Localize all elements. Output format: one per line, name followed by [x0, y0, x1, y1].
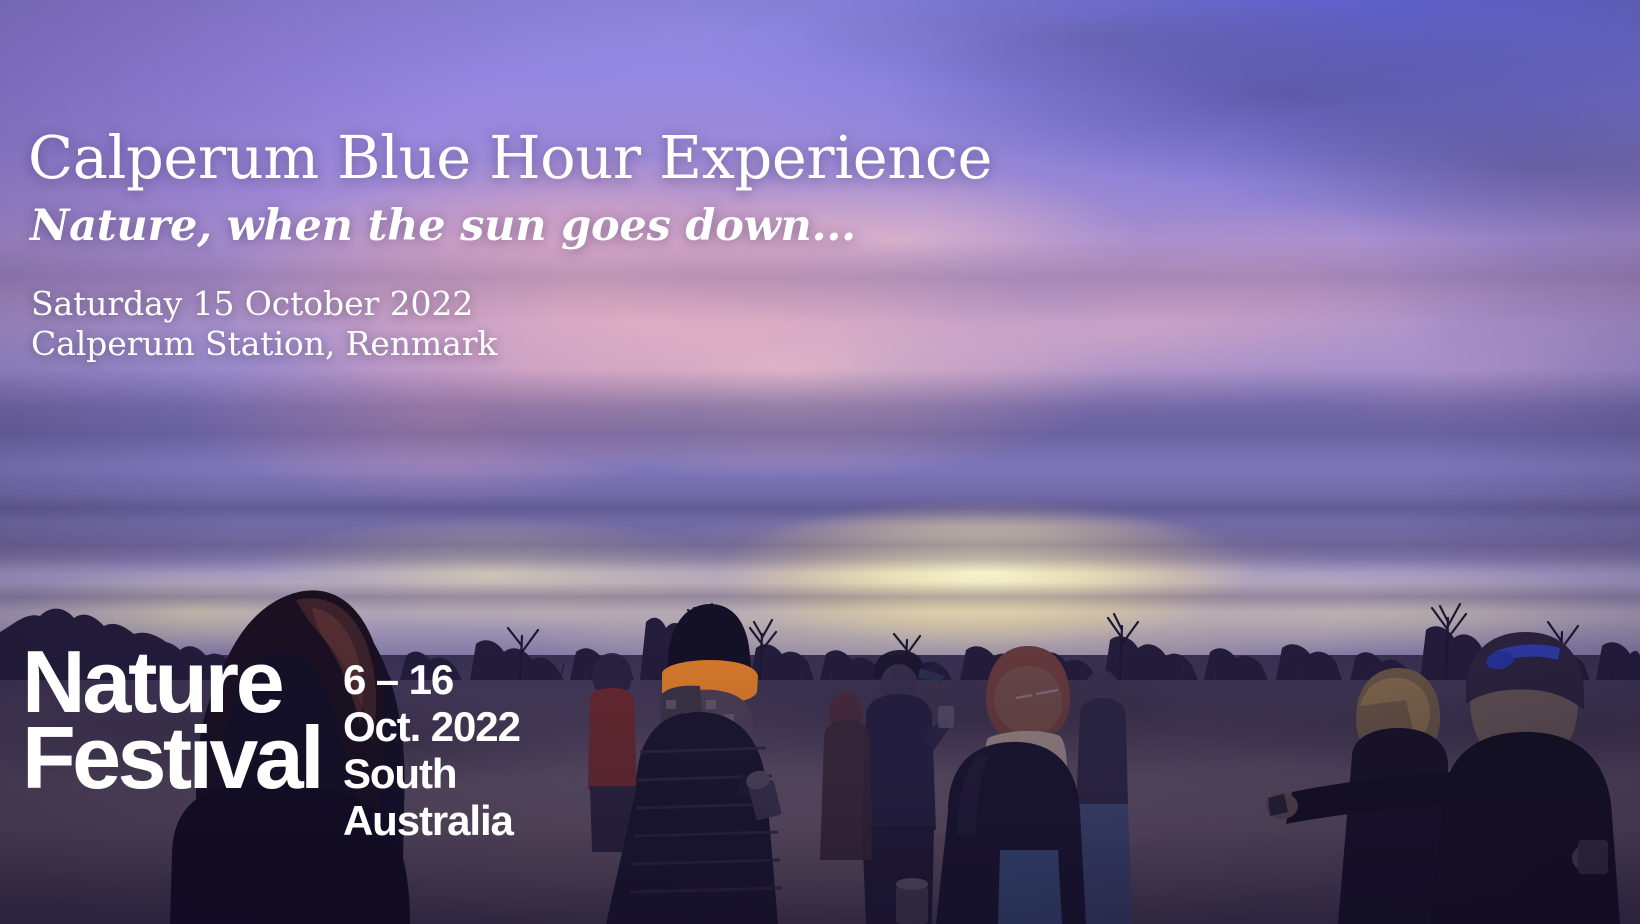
event-date: Saturday 15 October 2022: [31, 284, 992, 324]
logo-region-line-1: South: [343, 750, 520, 797]
event-poster: Calperum Blue Hour Experience Nature, wh…: [0, 0, 1640, 924]
nature-festival-logo: Nature Festival 6 – 16 Oct. 2022 South A…: [22, 644, 520, 844]
logo-wordmark: Nature Festival: [22, 644, 321, 795]
logo-region-line-2: Australia: [343, 797, 520, 844]
logo-word-festival: Festival: [22, 720, 321, 796]
page-title: Calperum Blue Hour Experience: [28, 128, 992, 187]
event-tagline: Nature, when the sun goes down...: [30, 205, 992, 248]
logo-date-month-year: Oct. 2022: [343, 703, 520, 750]
event-meta: Saturday 15 October 2022 Calperum Statio…: [31, 284, 992, 365]
headline-block: Calperum Blue Hour Experience Nature, wh…: [28, 128, 992, 365]
logo-date-range: 6 – 16: [343, 656, 520, 703]
logo-date-block: 6 – 16 Oct. 2022 South Australia: [343, 644, 520, 844]
event-location: Calperum Station, Renmark: [31, 324, 992, 364]
